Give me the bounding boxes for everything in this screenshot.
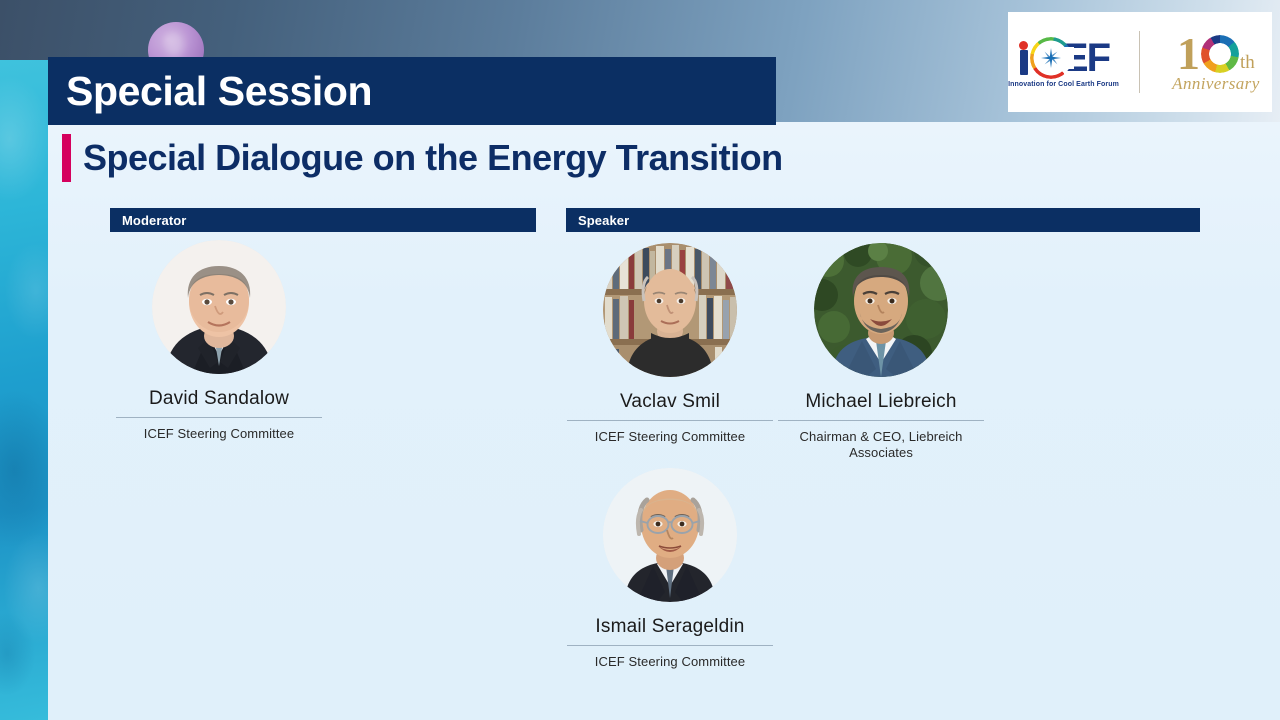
speaker-section-header: Speaker [566, 208, 1200, 232]
person-card: Ismail Serageldin ICEF Steering Committe… [565, 468, 775, 670]
avatar [603, 243, 737, 377]
name-divider [116, 417, 322, 418]
speaker-label: Speaker [578, 213, 629, 228]
person-name: Vaclav Smil [620, 391, 720, 413]
session-label-text: Special Session [66, 71, 372, 112]
page-title: Special Dialogue on the Energy Transitio… [83, 134, 783, 182]
icef-wordmark: EF Innovation for Cool Earth Forum [1008, 37, 1119, 88]
avatar [814, 243, 948, 377]
anniversary-word: Anniversary [1172, 74, 1260, 94]
presentation-slide: Special Session Special Dialogue on the … [0, 0, 1280, 720]
person-card: Vaclav Smil ICEF Steering Committee [565, 243, 775, 445]
person-affiliation: Chairman & CEO, Liebreich Associates [784, 429, 979, 461]
anniversary-number: 1 [1177, 32, 1200, 76]
person-card: Michael Liebreich Chairman & CEO, Liebre… [776, 243, 986, 461]
avatar [603, 468, 737, 602]
icef-logo-card: EF Innovation for Cool Earth Forum 1 th … [1008, 12, 1272, 112]
anniversary-suffix: th [1240, 53, 1255, 72]
person-card: David Sandalow ICEF Steering Committee [114, 240, 324, 442]
person-name: David Sandalow [149, 388, 289, 410]
letter-i-icon [1018, 41, 1029, 75]
slide-title-row: Special Dialogue on the Energy Transitio… [62, 134, 783, 182]
moderator-section-header: Moderator [110, 208, 536, 232]
person-affiliation: ICEF Steering Committee [144, 426, 294, 442]
title-accent-bar [62, 134, 71, 182]
person-affiliation: ICEF Steering Committee [595, 654, 745, 670]
anniversary-ring-icon [1201, 35, 1239, 73]
person-affiliation: ICEF Steering Committee [595, 429, 745, 445]
session-label-bar: Special Session [48, 57, 776, 125]
left-water-accent-strip [0, 60, 48, 720]
person-name: Ismail Serageldin [595, 616, 744, 638]
logo-divider [1139, 31, 1140, 93]
icef-tagline: Innovation for Cool Earth Forum [1008, 81, 1119, 88]
anniversary-mark: 1 th Anniversary [1160, 30, 1272, 94]
star-burst-icon [1041, 48, 1061, 68]
name-divider [567, 420, 773, 421]
avatar [152, 240, 286, 374]
person-name: Michael Liebreich [805, 391, 956, 413]
name-divider [778, 420, 984, 421]
name-divider [567, 645, 773, 646]
moderator-label: Moderator [122, 213, 186, 228]
colored-ring-c-icon [1030, 37, 1072, 79]
